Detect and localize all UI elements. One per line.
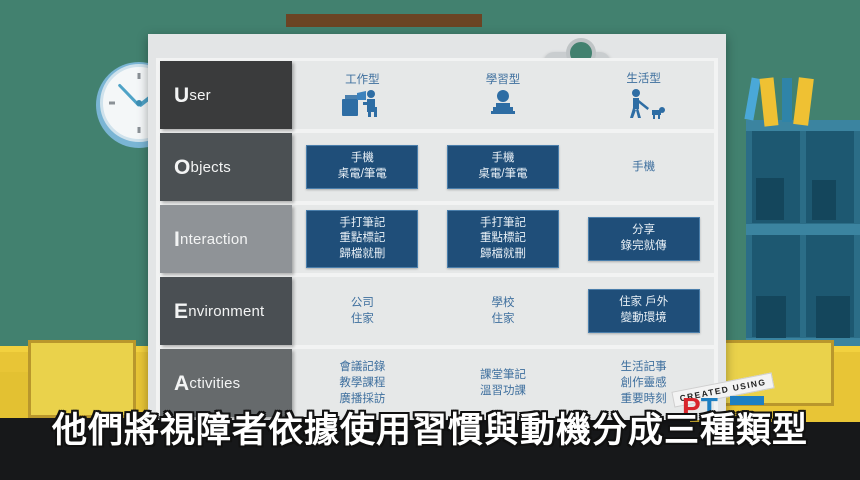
text-line: 住家	[492, 311, 515, 327]
chip-line: 重點標記	[450, 231, 556, 247]
chip-line: 變動環境	[591, 311, 697, 327]
chip-line: 手機	[450, 151, 556, 167]
chip-interaction-life: 分享 錄完就傳	[588, 217, 700, 260]
chip-line: 錄完就傳	[591, 239, 697, 255]
scene: User 工作型	[0, 0, 860, 480]
matrix-cells-interaction: 手打筆記 重點標記 歸檔就刪 手打筆記 重點標記 歸檔就刪	[292, 205, 714, 273]
row-label-environment-rest: nvironment	[188, 303, 264, 320]
chip-line: 手打筆記	[450, 216, 556, 232]
chip-environment-life: 住家 戶外 變動環境	[588, 289, 700, 332]
chip-line: 歸檔就刪	[309, 247, 415, 263]
cell-objects-work[interactable]: 手機 桌電/筆電	[292, 133, 433, 201]
chip-interaction-work: 手打筆記 重點標記 歸檔就刪	[306, 210, 418, 269]
clipboard: User 工作型	[148, 34, 726, 420]
row-label-interaction: Interaction	[160, 205, 292, 273]
bookcase	[746, 120, 860, 350]
text-objects-life: 手機	[632, 159, 655, 175]
cell-objects-life[interactable]: 手機	[573, 133, 714, 201]
text-activities-work: 會議記錄 教學課程 廣播採訪	[339, 359, 385, 407]
chip-line: 住家 戶外	[591, 295, 697, 311]
matrix-row-objects: Objects 手機 桌電/筆電 手機 桌電/筆電	[160, 133, 714, 201]
row-label-user-rest: ser	[189, 87, 210, 104]
matrix-sheet: User 工作型	[156, 58, 718, 414]
row-label-activities-rest: ctivities	[189, 375, 240, 392]
text-line: 公司	[351, 295, 374, 311]
cell-environment-life[interactable]: 住家 戶外 變動環境	[573, 277, 714, 345]
person-walking-dog-icon	[622, 88, 666, 120]
subtitle: 他們將視障者依據使用習慣與動機分成三種類型	[0, 402, 860, 453]
person-reading-icon	[481, 89, 525, 119]
cell-environment-work[interactable]: 公司 住家	[292, 277, 433, 345]
chip-line: 手機	[309, 151, 415, 167]
chip-line: 重點標記	[309, 231, 415, 247]
row-label-objects: Objects	[160, 133, 292, 201]
row-label-environment: Environment	[160, 277, 292, 345]
chip-line: 桌電/筆電	[309, 167, 415, 183]
row-label-user-cap: U	[174, 85, 189, 106]
chip-line: 分享	[591, 223, 697, 239]
chip-interaction-study: 手打筆記 重點標記 歸檔就刪	[447, 210, 559, 269]
text-line: 生活記事	[621, 359, 667, 375]
row-label-objects-rest: bjects	[191, 159, 231, 176]
cell-objects-study[interactable]: 手機 桌電/筆電	[433, 133, 574, 201]
column-head-study: 學習型	[486, 71, 521, 87]
matrix-cells-objects: 手機 桌電/筆電 手機 桌電/筆電 手機	[292, 133, 714, 201]
chip-line: 桌電/筆電	[450, 167, 556, 183]
cell-user-work[interactable]: 工作型	[292, 61, 433, 129]
row-label-interaction-rest: nteraction	[180, 231, 248, 248]
chip-objects-study: 手機 桌電/筆電	[447, 145, 559, 188]
row-label-objects-cap: O	[174, 157, 191, 178]
text-line: 創作靈感	[621, 375, 667, 391]
chip-line: 手打筆記	[309, 216, 415, 232]
matrix-cells-user: 工作型	[292, 61, 714, 129]
text-line: 會議記錄	[339, 359, 385, 375]
cell-interaction-work[interactable]: 手打筆記 重點標記 歸檔就刪	[292, 205, 433, 273]
text-line: 住家	[351, 311, 374, 327]
chip-line: 歸檔就刪	[450, 247, 556, 263]
matrix-cells-environment: 公司 住家 學校 住家 住家 戶外 變動環境	[292, 277, 714, 345]
text-line: 教學課程	[339, 375, 385, 391]
text-line: 課堂筆記	[480, 367, 526, 383]
matrix-row-interaction: Interaction 手打筆記 重點標記 歸檔就刪 手打筆記 重點標記	[160, 205, 714, 273]
text-line: 手機	[632, 159, 655, 175]
cell-interaction-life[interactable]: 分享 錄完就傳	[573, 205, 714, 273]
cell-interaction-study[interactable]: 手打筆記 重點標記 歸檔就刪	[433, 205, 574, 273]
matrix-row-user: User 工作型	[160, 61, 714, 129]
row-label-activities-cap: A	[174, 373, 189, 394]
text-line: 溫習功課	[480, 383, 526, 399]
wooden-shelf	[286, 14, 482, 27]
text-activities-study: 課堂筆記 溫習功課	[480, 367, 526, 399]
row-label-user: User	[160, 61, 292, 129]
row-label-environment-cap: E	[174, 301, 188, 322]
matrix-row-environment: Environment 公司 住家 學校 住家	[160, 277, 714, 345]
column-head-work: 工作型	[345, 71, 380, 87]
text-activities-life: 生活記事 創作靈感 重要時刻	[621, 359, 667, 407]
chip-objects-work: 手機 桌電/筆電	[306, 145, 418, 188]
column-head-life: 生活型	[626, 70, 661, 86]
cell-user-study[interactable]: 學習型	[433, 61, 574, 129]
text-environment-work: 公司 住家	[351, 295, 374, 327]
cell-environment-study[interactable]: 學校 住家	[433, 277, 574, 345]
person-at-desk-icon	[340, 89, 384, 119]
text-line: 學校	[492, 295, 515, 311]
text-environment-study: 學校 住家	[492, 295, 515, 327]
cell-user-life[interactable]: 生活型	[573, 61, 714, 129]
